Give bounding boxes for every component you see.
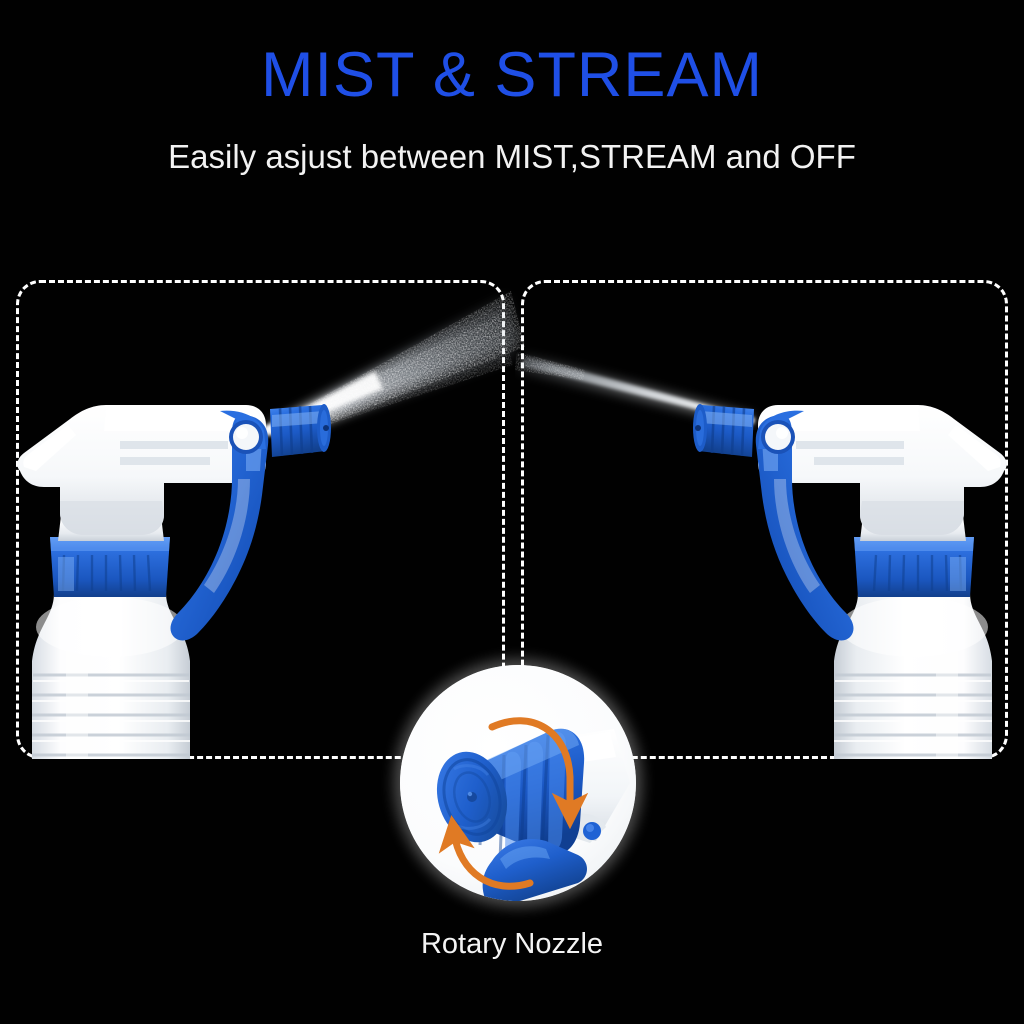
product-feature-graphic: MIST & STREAM Easily asjust between MIST… [0, 0, 1024, 1024]
bottle-body-shape [834, 593, 992, 759]
page-title: MIST & STREAM [0, 44, 1024, 107]
collar-ring-shape [854, 537, 974, 597]
page-subtitle: Easily asjust between MIST,STREAM and OF… [0, 140, 1024, 173]
spray-bottle-stream [680, 375, 1010, 795]
rotary-nozzle-inset [400, 665, 636, 901]
pivot-button-shape [761, 420, 795, 454]
nozzle-cap-shape [693, 404, 754, 457]
collar-ring-shape [50, 537, 170, 597]
spray-bottle-mist [14, 375, 344, 795]
pivot-button-shape [229, 420, 263, 454]
bottle-body-shape [32, 593, 190, 759]
inset-caption: Rotary Nozzle [0, 930, 1024, 959]
nozzle-cap-shape [270, 404, 331, 457]
